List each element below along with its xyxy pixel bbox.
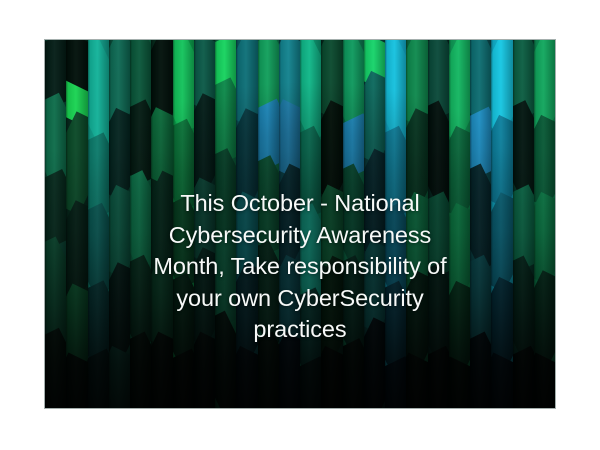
artwork-chevron-band	[236, 346, 257, 408]
artwork-chevron-band	[88, 349, 109, 408]
page-root: This October - National Cybersecurity Aw…	[0, 0, 600, 450]
artwork-chevron-band	[385, 356, 406, 408]
artwork-chevron-band	[343, 339, 364, 408]
artwork-chevron-band	[428, 346, 449, 408]
artwork-chevron-band	[513, 346, 534, 408]
artwork-chevron-band	[513, 100, 534, 200]
banner-headline: This October - National Cybersecurity Aw…	[45, 188, 555, 346]
artwork-chevron-band	[534, 353, 555, 408]
artwork-chevron-band	[449, 356, 470, 408]
artwork-chevron-band	[449, 40, 470, 141]
artwork-chevron-band	[406, 353, 427, 408]
artwork-chevron-band	[491, 353, 512, 408]
artwork-chevron-band	[109, 346, 130, 408]
artwork-chevron-band	[66, 353, 87, 408]
artwork-chevron-band	[321, 346, 342, 408]
cybersecurity-awareness-banner: This October - National Cybersecurity Aw…	[45, 40, 555, 408]
artwork-chevron-band	[300, 356, 321, 408]
artwork-chevron-band	[173, 349, 194, 408]
artwork-chevron-band	[194, 93, 215, 193]
artwork-chevron-band	[88, 40, 109, 148]
artwork-chevron-band	[321, 100, 342, 200]
